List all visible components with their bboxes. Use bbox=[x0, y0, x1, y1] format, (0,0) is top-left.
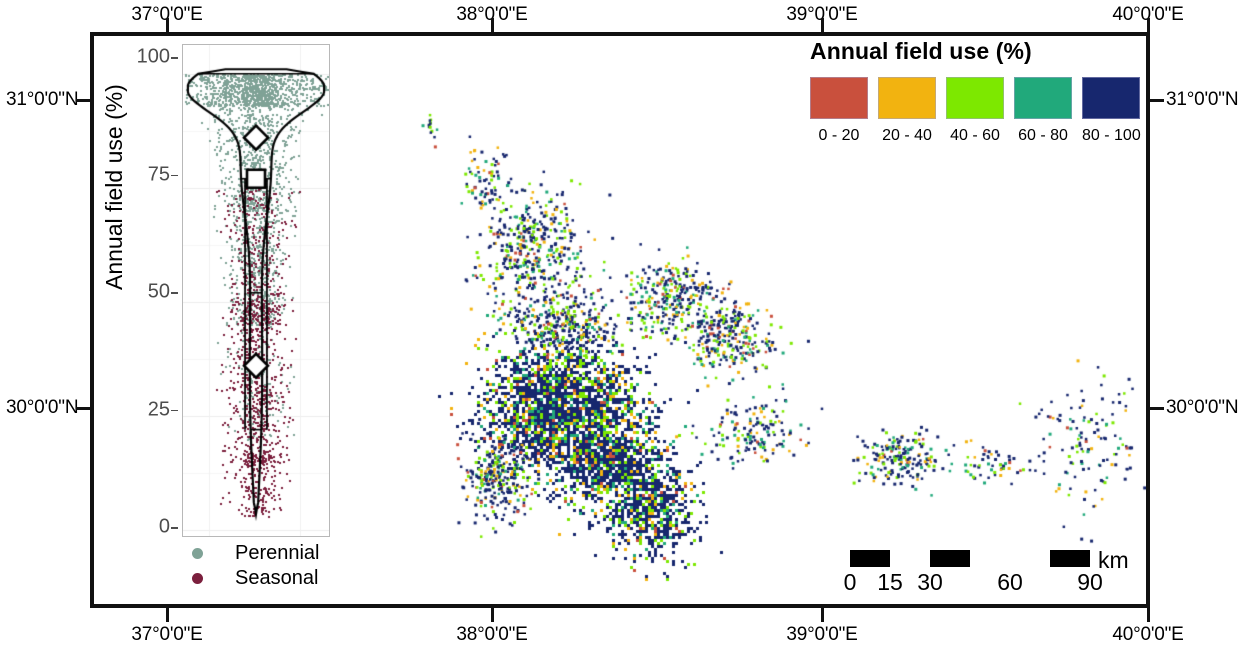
inset-legend-label: Perennial bbox=[235, 542, 320, 565]
lon-label-bottom: 39°0'0"E bbox=[786, 624, 857, 646]
scale-bar-segment bbox=[890, 550, 930, 567]
scale-bar-segment bbox=[970, 550, 1050, 567]
lat-label-right: 31°0'0"N bbox=[1166, 89, 1238, 111]
legend-range-label: 0 - 20 bbox=[810, 127, 868, 145]
lat-tick-left bbox=[76, 407, 90, 410]
legend-range-label: 40 - 60 bbox=[946, 127, 1004, 145]
inset-legend-item-seasonal: Seasonal bbox=[192, 566, 320, 591]
legend-item-2: 20 - 40 bbox=[878, 77, 936, 145]
inset-violin-panel[interactable] bbox=[182, 44, 330, 537]
inset-y-tick-mark bbox=[171, 175, 178, 177]
inset-legend: PerennialSeasonal bbox=[192, 541, 320, 591]
legend-item-3: 40 - 60 bbox=[946, 77, 1004, 145]
lon-tick-bottom bbox=[491, 608, 494, 622]
lon-label-bottom: 40°0'0"E bbox=[1112, 624, 1183, 646]
figure-root: Annual field use (%) 0 - 2020 - 4040 - 6… bbox=[0, 0, 1242, 644]
legend-range-label: 80 - 100 bbox=[1082, 127, 1140, 145]
scale-bar-track bbox=[850, 550, 1090, 567]
map-legend: Annual field use (%) 0 - 2020 - 4040 - 6… bbox=[810, 38, 1150, 145]
inset-y-tick-mark bbox=[171, 292, 178, 294]
lon-label-bottom: 37°0'0"E bbox=[131, 624, 202, 646]
legend-item-5: 80 - 100 bbox=[1082, 77, 1140, 145]
inset-plot-area bbox=[183, 45, 329, 536]
inset-legend-dot bbox=[192, 573, 203, 584]
inset-y-tick-label: 75 bbox=[125, 163, 170, 186]
legend-color-swatch bbox=[1082, 77, 1140, 119]
inset-y-tick-label: 100 bbox=[125, 46, 170, 69]
lat-tick-right bbox=[1150, 99, 1164, 102]
legend-color-swatch bbox=[810, 77, 868, 119]
inset-y-tick-mark bbox=[171, 57, 178, 59]
inset-legend-label: Seasonal bbox=[235, 567, 318, 590]
scale-bar: km 015306090 bbox=[850, 550, 1090, 595]
scale-bar-tick-label: 0 bbox=[844, 569, 857, 596]
lat-label-left: 30°0'0"N bbox=[6, 397, 78, 419]
lat-label-right: 30°0'0"N bbox=[1166, 397, 1238, 419]
map-panel[interactable]: Annual field use (%) 0 - 2020 - 4040 - 6… bbox=[90, 32, 1150, 608]
lon-tick-bottom bbox=[1147, 608, 1150, 622]
inset-y-axis-title: Annual field use (%) bbox=[101, 84, 128, 290]
lon-tick-top bbox=[821, 18, 824, 32]
scale-bar-tick-label: 60 bbox=[997, 569, 1023, 596]
legend-swatch-row: 0 - 2020 - 4040 - 6060 - 8080 - 100 bbox=[810, 77, 1150, 145]
inset-y-tick-mark bbox=[171, 410, 178, 412]
lon-tick-bottom bbox=[166, 608, 169, 622]
inset-y-tick-mark bbox=[171, 527, 178, 529]
scale-bar-tick-labels: 015306090 bbox=[850, 569, 1090, 595]
legend-range-label: 60 - 80 bbox=[1014, 127, 1072, 145]
lon-label-bottom: 38°0'0"E bbox=[456, 624, 527, 646]
scale-bar-segment bbox=[850, 550, 890, 567]
inset-y-tick-label: 0 bbox=[125, 516, 170, 539]
scale-bar-tick-label: 90 bbox=[1077, 569, 1103, 596]
inset-y-tick-label: 25 bbox=[125, 398, 170, 421]
legend-title: Annual field use (%) bbox=[810, 38, 1150, 65]
inset-legend-dot bbox=[192, 548, 203, 559]
scale-bar-tick-label: 15 bbox=[877, 569, 903, 596]
legend-color-swatch bbox=[878, 77, 936, 119]
violin-plot-canvas bbox=[183, 45, 329, 536]
scale-bar-tick-label: 30 bbox=[917, 569, 943, 596]
lon-tick-top bbox=[1147, 18, 1150, 32]
legend-color-swatch bbox=[1014, 77, 1072, 119]
lon-tick-bottom bbox=[821, 608, 824, 622]
lat-tick-left bbox=[76, 99, 90, 102]
legend-color-swatch bbox=[946, 77, 1004, 119]
lon-tick-top bbox=[166, 18, 169, 32]
legend-range-label: 20 - 40 bbox=[878, 127, 936, 145]
inset-y-tick-label: 50 bbox=[125, 281, 170, 304]
scale-bar-segment bbox=[1050, 550, 1090, 567]
inset-legend-item-perennial: Perennial bbox=[192, 541, 320, 566]
lat-label-left: 31°0'0"N bbox=[6, 89, 78, 111]
lat-tick-right bbox=[1150, 407, 1164, 410]
legend-item-4: 60 - 80 bbox=[1014, 77, 1072, 145]
lon-tick-top bbox=[491, 18, 494, 32]
legend-item-1: 0 - 20 bbox=[810, 77, 868, 145]
scale-bar-segment bbox=[930, 550, 970, 567]
